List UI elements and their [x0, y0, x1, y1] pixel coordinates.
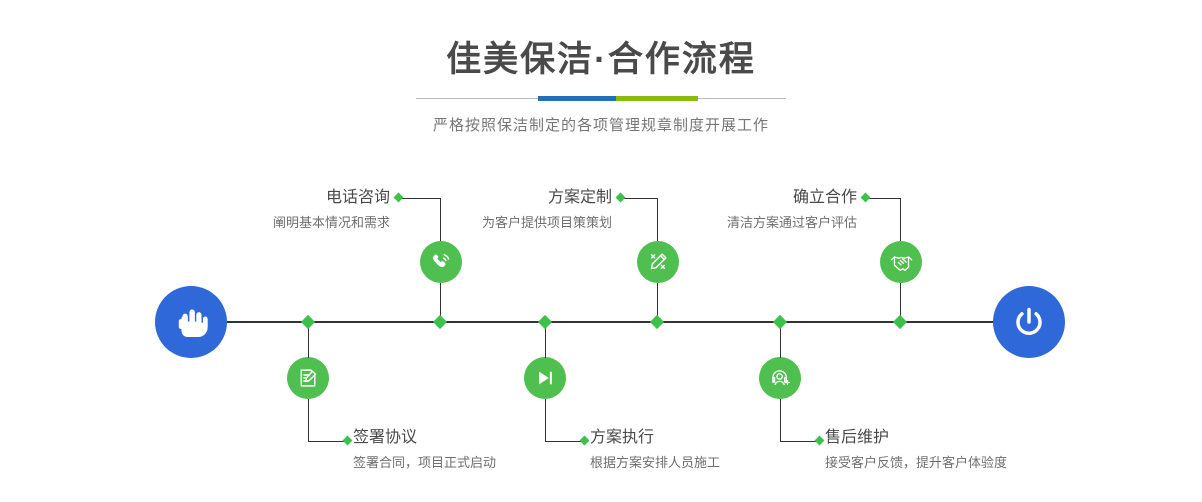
axis-diamond-after-sales	[773, 315, 787, 329]
step-desc: 接受客户反馈，提升客户体验度	[825, 448, 1202, 472]
handshake-icon	[889, 250, 914, 275]
pencil-design-icon	[646, 250, 670, 274]
axis-diamond-sign-agreement	[301, 315, 315, 329]
customer-support-icon	[768, 366, 792, 390]
axis-diamond-plan-custom	[650, 315, 664, 329]
play-execute-icon	[533, 366, 557, 390]
cooperation-process-infographic: 佳美保洁·合作流程 严格按照保洁制定的各项管理规章制度开展工作	[0, 0, 1202, 502]
step-desc: 清洁方案通过客户评估	[467, 208, 857, 232]
axis-diamond-phone-consult	[433, 315, 447, 329]
axis-diamond-plan-execute	[538, 315, 552, 329]
timeline: 电话咨询 阐明基本情况和需求 方案定制 为客户提供项目策策划	[0, 0, 1202, 502]
node-icon-after-sales[interactable]	[759, 357, 801, 399]
node-icon-establish-coop[interactable]	[880, 241, 922, 283]
connector-elbow-sign-agreement	[308, 441, 346, 442]
connector-riser-plan-execute	[545, 399, 546, 441]
connector-riser-after-sales	[780, 399, 781, 441]
connector-elbow-plan-execute	[545, 441, 583, 442]
node-icon-plan-custom[interactable]	[637, 241, 679, 283]
pointing-hand-icon	[172, 303, 210, 341]
document-sign-icon	[296, 366, 320, 390]
phone-call-icon	[429, 250, 453, 274]
step-label-establish-coop: 确立合作 清洁方案通过客户评估	[467, 188, 857, 232]
node-icon-phone-consult[interactable]	[420, 241, 462, 283]
timeline-end-node[interactable]	[993, 286, 1065, 358]
power-icon	[1009, 302, 1049, 342]
timeline-start-node[interactable]	[155, 286, 227, 358]
label-diamond-sign-agreement	[343, 436, 353, 446]
label-diamond-establish-coop	[861, 193, 871, 203]
connector-elbow-after-sales	[780, 441, 818, 442]
axis-diamond-establish-coop	[893, 315, 907, 329]
connector-riser-establish-coop	[900, 198, 901, 241]
step-title: 确立合作	[467, 188, 857, 208]
step-title: 售后维护	[825, 428, 1202, 448]
node-icon-sign-agreement[interactable]	[287, 357, 329, 399]
node-icon-plan-execute[interactable]	[524, 357, 566, 399]
step-label-after-sales: 售后维护 接受客户反馈，提升客户体验度	[825, 428, 1202, 472]
connector-riser-sign-agreement	[308, 399, 309, 441]
connector-elbow-establish-coop	[865, 198, 900, 199]
